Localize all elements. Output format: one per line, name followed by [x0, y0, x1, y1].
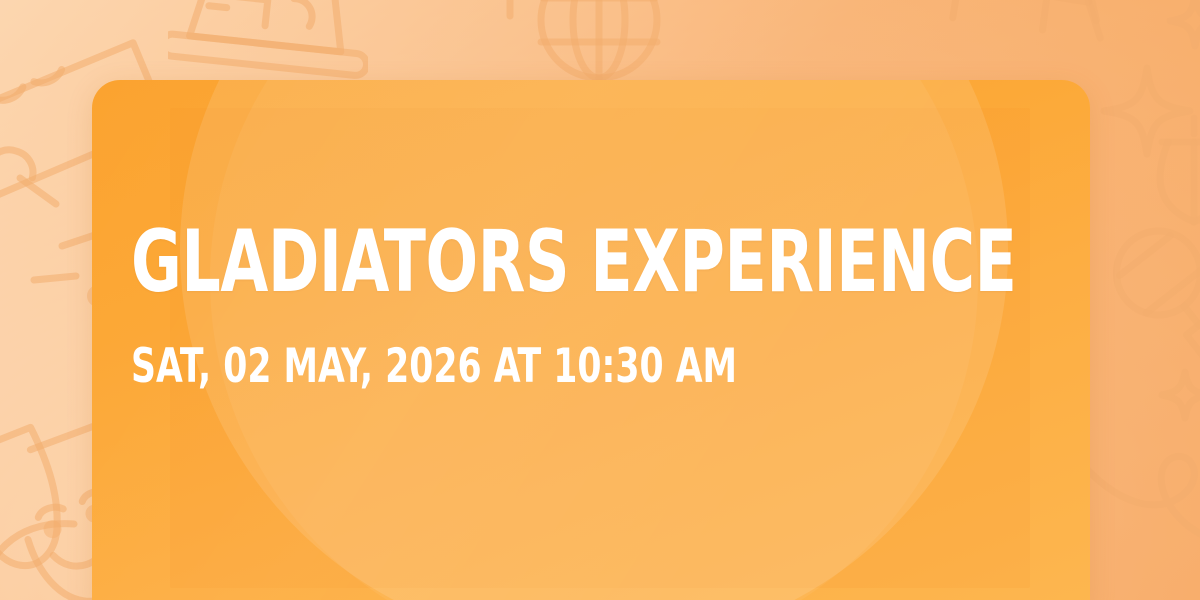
page-title: GLADIATORS EXPERIENCE — [131, 218, 1017, 306]
event-card[interactable]: GLADIATORS EXPERIENCE SAT, 02 MAY, 2026 … — [92, 80, 1090, 600]
dash-icon — [490, 0, 530, 30]
event-datetime: SAT, 02 MAY, 2026 AT 10:30 AM — [131, 342, 737, 392]
sparkle-icon — [1160, 0, 1200, 56]
lantern-icon — [1134, 104, 1200, 254]
sparkle-icon — [1150, 360, 1200, 430]
card-text-block: GLADIATORS EXPERIENCE SAT, 02 MAY, 2026 … — [131, 80, 1011, 600]
dash-icon — [12, 170, 72, 214]
banner-canvas: GLADIATORS EXPERIENCE SAT, 02 MAY, 2026 … — [0, 0, 1200, 600]
laptop-icon — [168, 0, 368, 92]
